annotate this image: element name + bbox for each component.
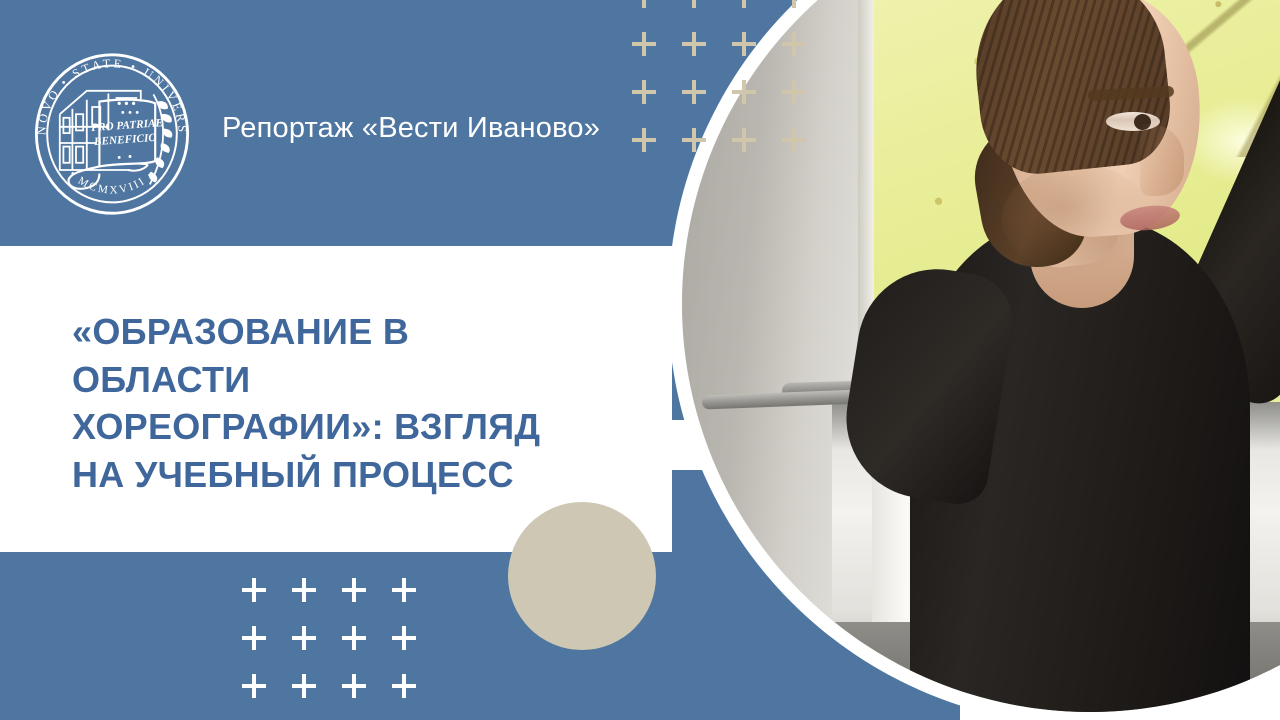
title-line-1: «ОБРАЗОВАНИЕ В	[72, 308, 652, 356]
seal-motto-line-2: BENEFICIO	[93, 132, 157, 148]
beige-circle-accent	[508, 502, 656, 650]
page-title: «ОБРАЗОВАНИЕ В ОБЛАСТИ ХОРЕОГРАФИИ»: ВЗГ…	[72, 308, 652, 498]
university-seal-logo: IVANOVO • STATE • UNIVERSITY • MCMXVIII …	[22, 44, 202, 224]
title-line-4: НА УЧЕБНЫЙ ПРОЦЕСС	[72, 451, 652, 499]
seal-building-dots	[118, 102, 139, 114]
title-card: IVANOVO • STATE • UNIVERSITY • MCMXVIII …	[0, 0, 1280, 720]
report-source-label: Репортаж «Вести Иваново»	[222, 112, 600, 145]
seal-rim-bottom-text: • MCMXVIII •	[67, 168, 158, 196]
title-line-3: ХОРЕОГРАФИИ»: ВЗГЛЯД	[72, 403, 652, 451]
title-line-2: ОБЛАСТИ	[72, 356, 652, 404]
photo-scene	[682, 0, 1280, 712]
photo-ballet-dancer	[682, 0, 1280, 712]
